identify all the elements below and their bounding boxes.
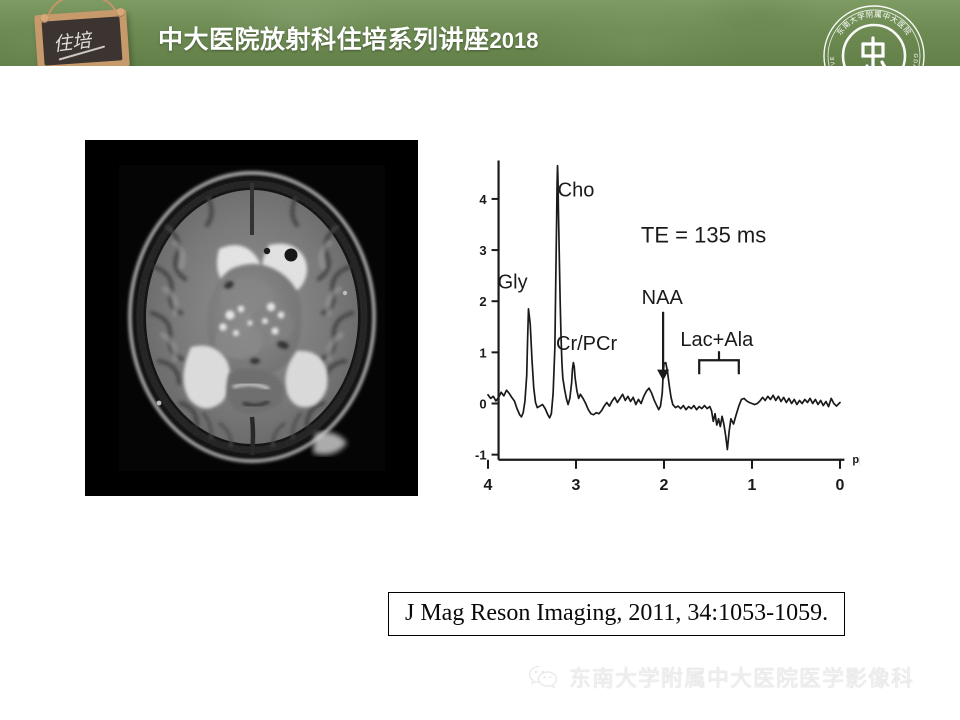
citation-box: J Mag Reson Imaging, 2011, 34:1053-1059. [388, 592, 845, 636]
footer-text: 东南大学附属中大医院医学影像科 [569, 661, 914, 693]
svg-text:1: 1 [748, 477, 757, 494]
page-title: 中大医院放射科住培系列讲座2018 [158, 20, 538, 56]
svg-text:TE = 135 ms: TE = 135 ms [641, 222, 766, 247]
spectrum-svg: -10123443210ppmGlyChoCr/PCrNAALac+AlaTE … [440, 140, 860, 522]
footer-watermark: 东南大学附属中大医院医学影像科 [528, 661, 914, 693]
page-title-cn: 中大医院放射科住培系列讲座 [158, 26, 490, 54]
svg-text:Gly: Gly [498, 271, 528, 293]
circular-seal-logo-icon: 东南大学附属中大医院 ZHONGDA HOSPITAL, SOUTHEAST U… [822, 4, 926, 66]
svg-text:4: 4 [484, 477, 493, 494]
svg-text:0: 0 [479, 397, 486, 412]
page-title-year: 2018 [490, 28, 539, 53]
sign-slate: 住培 [42, 16, 123, 65]
svg-text:3: 3 [572, 477, 581, 494]
mri-image-panel [85, 140, 418, 496]
svg-text:2: 2 [479, 294, 486, 309]
axial-t2-brain-mri-icon [119, 165, 385, 471]
svg-text:3: 3 [479, 243, 486, 258]
sign-pin-right-icon [116, 8, 125, 17]
svg-text:NAA: NAA [642, 287, 684, 309]
mrs-spectrum-chart: -10123443210ppmGlyChoCr/PCrNAALac+AlaTE … [440, 140, 860, 522]
svg-text:-1: -1 [475, 448, 487, 463]
svg-text:0: 0 [836, 477, 845, 494]
svg-text:1: 1 [479, 345, 486, 360]
svg-text:2: 2 [660, 477, 669, 494]
svg-text:Lac+Ala: Lac+Ala [680, 329, 754, 351]
header-banner: 住培 中大医院放射科住培系列讲座2018 东南大学附属中大医院 ZHONGDA … [0, 0, 960, 66]
svg-text:4: 4 [479, 192, 487, 207]
svg-text:Cr/PCr: Cr/PCr [556, 333, 617, 355]
wechat-icon [528, 664, 558, 690]
svg-text:ppm: ppm [852, 454, 860, 466]
sign-pin-left-icon [40, 14, 49, 23]
blackboard-sign: 住培 [28, 2, 136, 66]
svg-text:Cho: Cho [558, 179, 595, 201]
